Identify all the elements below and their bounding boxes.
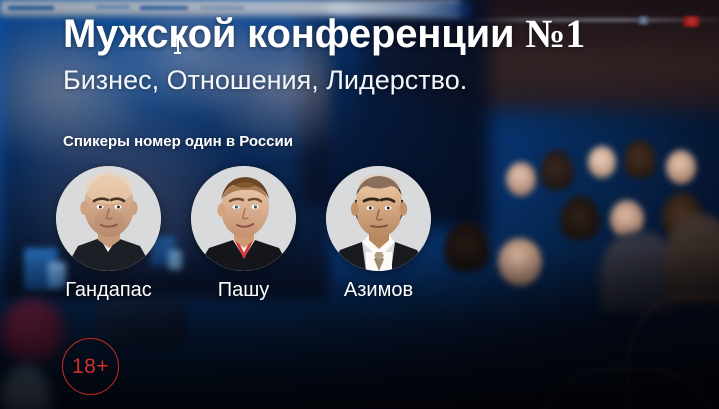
page-title: Мужской конференции №1 [63,10,585,57]
avatar-short-hair-man-red-collar-icon [191,166,296,271]
speaker-name: Азимов [326,279,431,302]
page-title-main: Мужской конференции [63,12,525,56]
avatar[interactable] [56,166,161,271]
speaker-card[interactable]: Пашу [191,166,296,302]
status-badge: 18+ [62,338,119,395]
page-title-numero: №1 [525,11,585,56]
avatar[interactable] [326,166,431,271]
avatar[interactable] [191,166,296,271]
speaker-name: Гандапас [56,279,161,302]
avatar-balding-man-white-shirt-tie-icon [326,166,431,271]
speakers-heading: Спикеры номер один в России [63,133,293,150]
speaker-card[interactable]: Азимов [326,166,431,302]
speaker-name: Пашу [191,279,296,302]
speaker-card[interactable]: Гандапас [56,166,161,302]
speakers-list: Гандапас [56,166,431,302]
avatar-bald-man-dark-suit-icon [56,166,161,271]
hero-banner: Мужской конференции №1 Бизнес, Отношения… [0,0,719,409]
page-subtitle: Бизнес, Отношения, Лидерство. [63,65,467,96]
age-restriction-label: 18+ [72,355,109,379]
